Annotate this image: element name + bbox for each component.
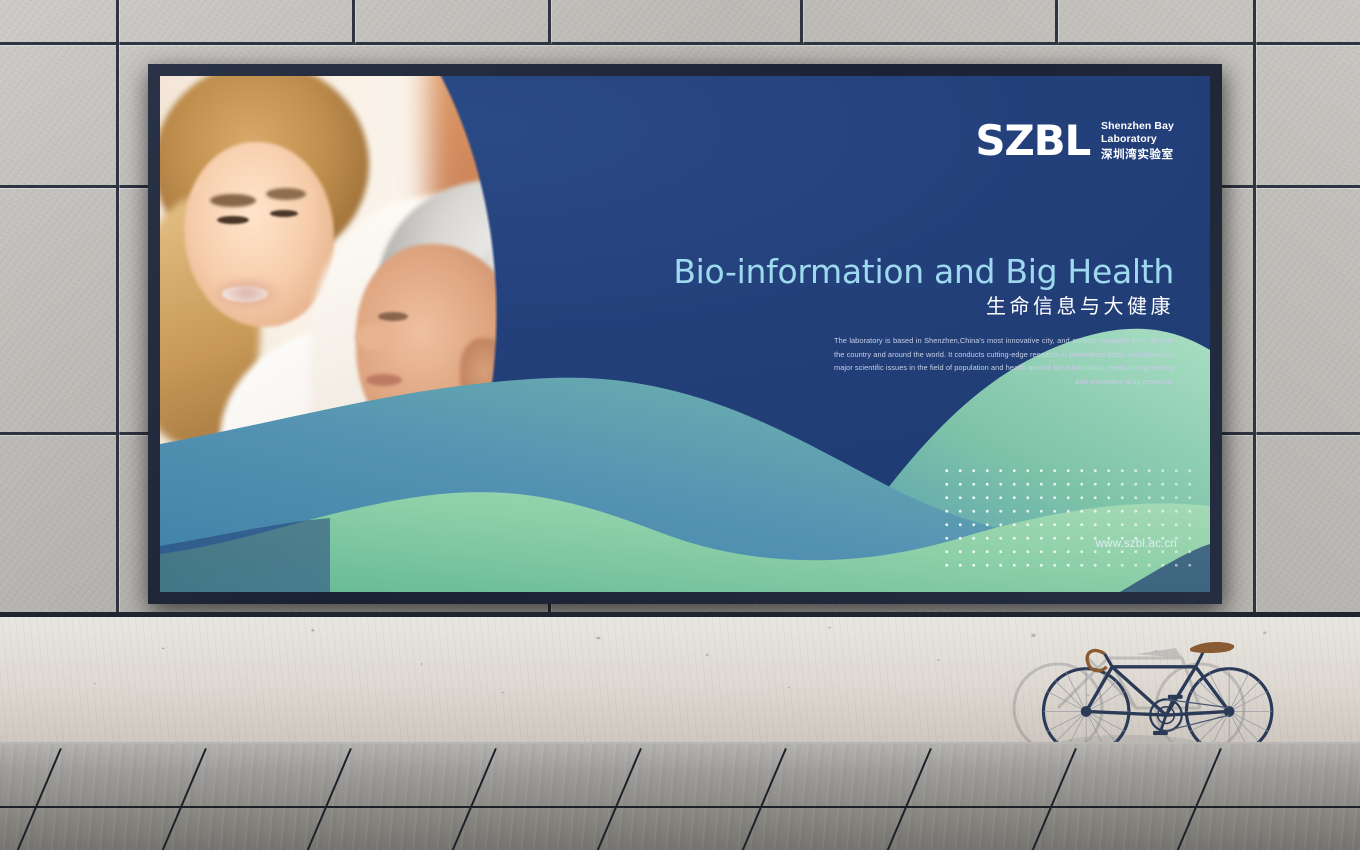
logo-name-cn: 深圳湾实验室: [1101, 148, 1174, 162]
poster-artwork: SZBL Shenzhen Bay Laboratory 深圳湾实验室 Bio-…: [160, 76, 1210, 592]
billboard-mockup-scene: SZBL Shenzhen Bay Laboratory 深圳湾实验室 Bio-…: [0, 0, 1360, 850]
logo-wordmark: SZBL: [975, 120, 1090, 162]
wall-seam-vertical: [800, 0, 803, 44]
poster-body-copy: The laboratory is based in Shenzhen,Chin…: [834, 334, 1174, 389]
poster-title-en: Bio-information and Big Health: [673, 252, 1174, 291]
billboard-inner-bezel: SZBL Shenzhen Bay Laboratory 深圳湾实验室 Bio-…: [160, 76, 1210, 592]
dot-pattern: [940, 464, 1192, 568]
wall-seam-vertical: [1055, 0, 1058, 44]
logo-name-line2: Laboratory: [1101, 133, 1174, 146]
logo-name-line1: Shenzhen Bay: [1101, 120, 1174, 133]
caregiver-eye: [217, 216, 249, 224]
pavement-joint-horizontal: [0, 806, 1360, 808]
bicycle: [1008, 626, 1298, 756]
billboard-frame[interactable]: SZBL Shenzhen Bay Laboratory 深圳湾实验室 Bio-…: [148, 64, 1222, 604]
poster-website-url[interactable]: www.szbl.ac.cn: [1096, 538, 1177, 550]
caregiver-eyebrow: [266, 188, 306, 200]
wall-seam-vertical: [548, 0, 551, 44]
wall-seam-vertical: [1253, 0, 1256, 612]
caregiver-eyebrow: [210, 194, 256, 207]
pavement-texture: [0, 742, 1360, 850]
poster-title-cn: 生命信息与大健康: [986, 290, 1174, 319]
wall-seam-vertical: [116, 0, 119, 612]
bicycle-illustration: [1008, 626, 1298, 756]
wall-seam-horizontal: [0, 42, 1360, 45]
szbl-logo[interactable]: SZBL Shenzhen Bay Laboratory 深圳湾实验室: [975, 120, 1174, 162]
caregiver-eye: [270, 210, 298, 217]
pavement-top-edge: [0, 742, 1360, 744]
pavement: [0, 742, 1360, 850]
logo-lockup-text: Shenzhen Bay Laboratory 深圳湾实验室: [1101, 120, 1174, 162]
wall-seam-vertical: [352, 0, 355, 44]
